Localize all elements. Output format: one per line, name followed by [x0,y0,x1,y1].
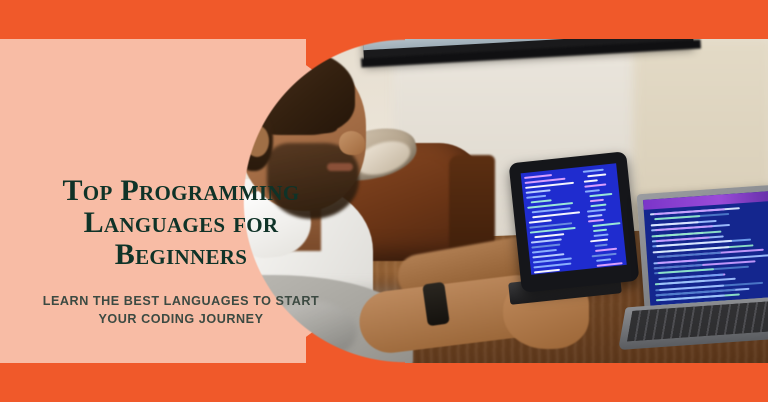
code-line [524,174,552,179]
page-title: Top Programming Languages for Beginners [16,175,346,271]
page-subtitle: Learn the best languages to start your c… [16,293,346,329]
code-line [534,233,564,238]
code-line [529,219,552,223]
code-line [592,222,620,227]
code-line [592,253,617,258]
code-line [587,209,606,213]
code-line [651,221,699,226]
code-line [589,193,612,197]
code-line [656,236,710,242]
code-line [532,249,557,254]
code-line [654,215,700,220]
laptop-screen [643,190,768,305]
code-line [585,189,600,193]
code-line [588,219,604,223]
code-line [534,269,560,274]
code-line [590,204,606,208]
text-block: Top Programming Languages for Beginners … [16,175,346,329]
code-line [584,179,599,182]
code-line [655,225,713,231]
content-band: Top Programming Languages for Beginners … [0,39,768,363]
title-line-2: Languages for [16,207,346,239]
code-line [658,269,714,275]
code-line [595,248,617,252]
laptop-lid [637,184,768,314]
code-line [597,262,623,267]
code-line [593,229,607,232]
code-line [584,183,606,187]
code-line [590,239,608,243]
laptop-editor-titlebar [643,190,768,210]
code-line [593,233,608,237]
ear [245,125,269,157]
code-line [590,199,604,202]
code-line [531,244,560,249]
code-line [533,263,571,269]
code-line [526,189,551,194]
code-line [583,169,604,173]
top-orange-border [0,0,768,39]
code-line [657,259,697,264]
code-line [531,199,552,203]
banner: Top Programming Languages for Beginners … [0,0,768,402]
code-line [587,173,606,177]
tablet-device [509,151,640,293]
tablet-screen [521,163,627,274]
title-line-1: Top Programming [16,175,346,207]
code-line [596,258,611,262]
lips [327,163,353,171]
code-line [595,244,608,247]
code-line [526,195,546,199]
bottom-orange-border [0,363,768,402]
laptop-device [637,184,768,326]
code-line [654,264,703,269]
title-line-3: Beginners [16,239,346,271]
code-line [587,214,603,218]
nose [339,131,365,155]
